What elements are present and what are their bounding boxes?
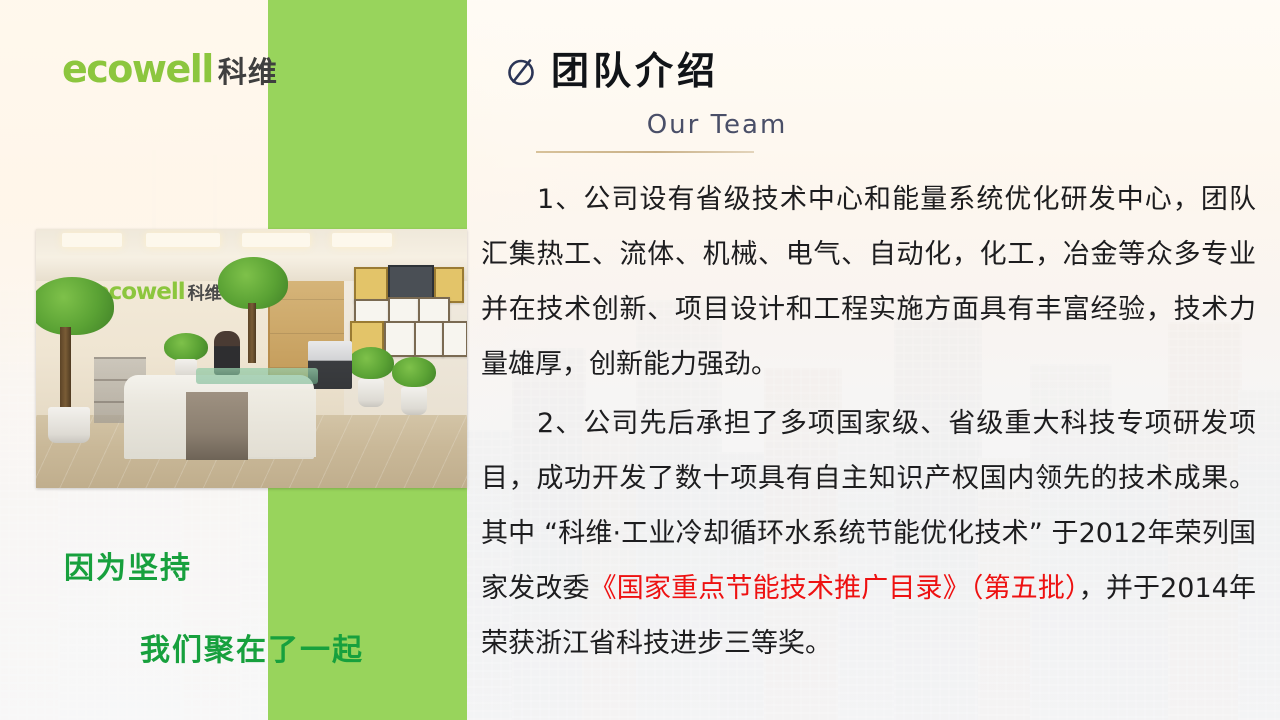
content-panel: 团队介绍 Our Team 1、公司设有省级技术中心和能量系统优化研发中心，团队…: [467, 0, 1280, 720]
photo-plant-right-1: [348, 347, 394, 413]
brand-logo: ecowell 科维: [62, 47, 278, 91]
photo-plant-right-2: [392, 357, 436, 419]
paragraph-2-marker: 2、: [537, 408, 583, 439]
tagline-block: 因为坚持 我们聚在了一起: [0, 543, 467, 669]
page-title: 团队介绍: [551, 52, 719, 90]
paragraph-2-highlight: 《国家重点节能技术推广目录》（第五批）: [590, 573, 1079, 604]
paragraph-2: 2、公司先后承担了多项国家级、省级重大科技专项研发项目，成功开发了数十项具有自主…: [481, 396, 1256, 671]
tagline-line-2: 我们聚在了一起: [140, 625, 467, 669]
brand-logo-mark: ecowell: [62, 47, 213, 91]
page-subtitle: Our Team: [567, 110, 867, 140]
paragraph-1-marker: 1、: [537, 184, 583, 215]
paragraph-1-text: 公司设有省级技术中心和能量系统优化研发中心，团队汇集热工、流体、机械、电气、自动…: [481, 184, 1256, 380]
office-reception-photo: ecowell 科维: [36, 229, 467, 488]
title-divider: [536, 151, 754, 153]
brand-logo-cn: 科维: [218, 49, 278, 91]
paragraph-1: 1、公司设有省级技术中心和能量系统优化研发中心，团队汇集热工、流体、机械、电气、…: [481, 172, 1256, 392]
tagline-line-1: 因为坚持: [64, 543, 467, 587]
circle-slash-icon: [505, 54, 539, 88]
page-heading: 团队介绍: [505, 52, 719, 90]
body-text: 1、公司设有省级技术中心和能量系统优化研发中心，团队汇集热工、流体、机械、电气、…: [481, 172, 1256, 675]
photo-wall-logo-cn: 科维: [188, 279, 222, 304]
slide-root: ecowell 科维 ecowell 科维: [0, 0, 1280, 720]
